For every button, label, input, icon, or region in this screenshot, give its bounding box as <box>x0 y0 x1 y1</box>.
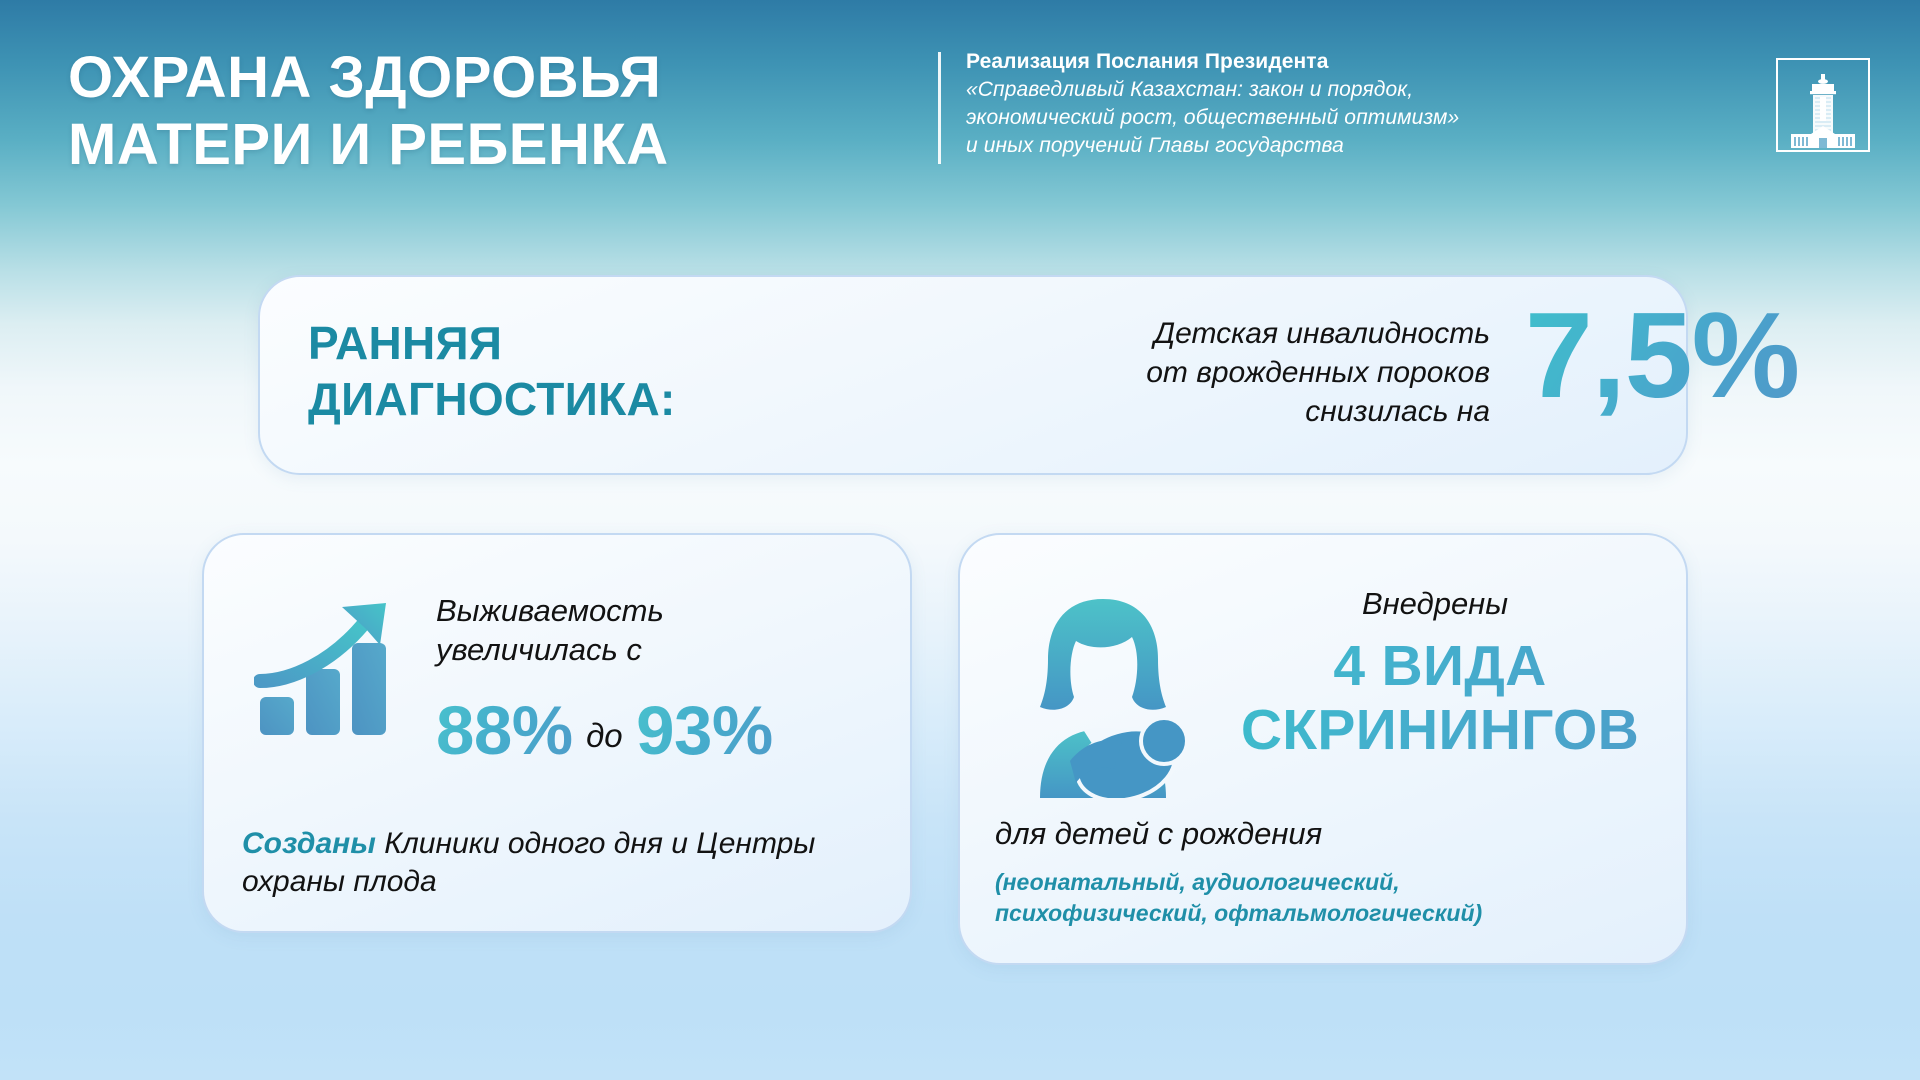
mother-and-baby-icon <box>1018 593 1188 798</box>
survival-connector: до <box>577 717 632 754</box>
growth-chart-icon <box>254 597 424 737</box>
survival-to-value: 93% <box>636 692 773 769</box>
header-subtitle-block: Реализация Послания Президента «Справедл… <box>966 48 1726 159</box>
early-diagnostics-description: Детская инвалидность от врожденных порок… <box>1020 314 1490 431</box>
screenings-intro: Внедрены <box>1220 585 1650 624</box>
early-diagnostics-value: 7,5% <box>1525 285 1799 425</box>
card-survival: Выживаемость увеличилась с 88% до 93% Со… <box>202 533 912 933</box>
header-subtitle-bold: Реализация Послания Президента <box>966 48 1726 76</box>
early-diagnostics-title: РАННЯЯ ДИАГНОСТИКА: <box>308 315 676 427</box>
header-subtitle-italic: «Справедливый Казахстан: закон и порядок… <box>966 76 1726 160</box>
survival-footer: Созданы Клиники одного дня и Центры охра… <box>242 825 882 902</box>
survival-from-value: 88% <box>436 692 573 769</box>
akorda-building-logo <box>1776 58 1870 152</box>
card-early-diagnostics: РАННЯЯ ДИАГНОСТИКА: Детская инвалидность… <box>258 275 1688 475</box>
survival-footer-accent: Созданы <box>242 827 376 860</box>
screenings-headline: 4 ВИДА СКРИНИНГОВ <box>1210 635 1670 763</box>
screenings-subtitle: для детей с рождения <box>995 815 1675 854</box>
screenings-note: (неонатальный, аудиологический, психофиз… <box>995 867 1685 928</box>
page-header: ОХРАНА ЗДОРОВЬЯ МАТЕРИ И РЕБЕНКА Реализа… <box>0 0 1920 215</box>
header-divider <box>938 52 941 164</box>
survival-text: Выживаемость увеличилась с <box>436 591 876 670</box>
card-screenings: Внедрены 4 ВИДА СКРИНИНГОВ для детей с р… <box>958 533 1688 965</box>
survival-numbers: 88% до 93% <box>436 691 886 770</box>
page-title: ОХРАНА ЗДОРОВЬЯ МАТЕРИ И РЕБЕНКА <box>68 44 669 179</box>
